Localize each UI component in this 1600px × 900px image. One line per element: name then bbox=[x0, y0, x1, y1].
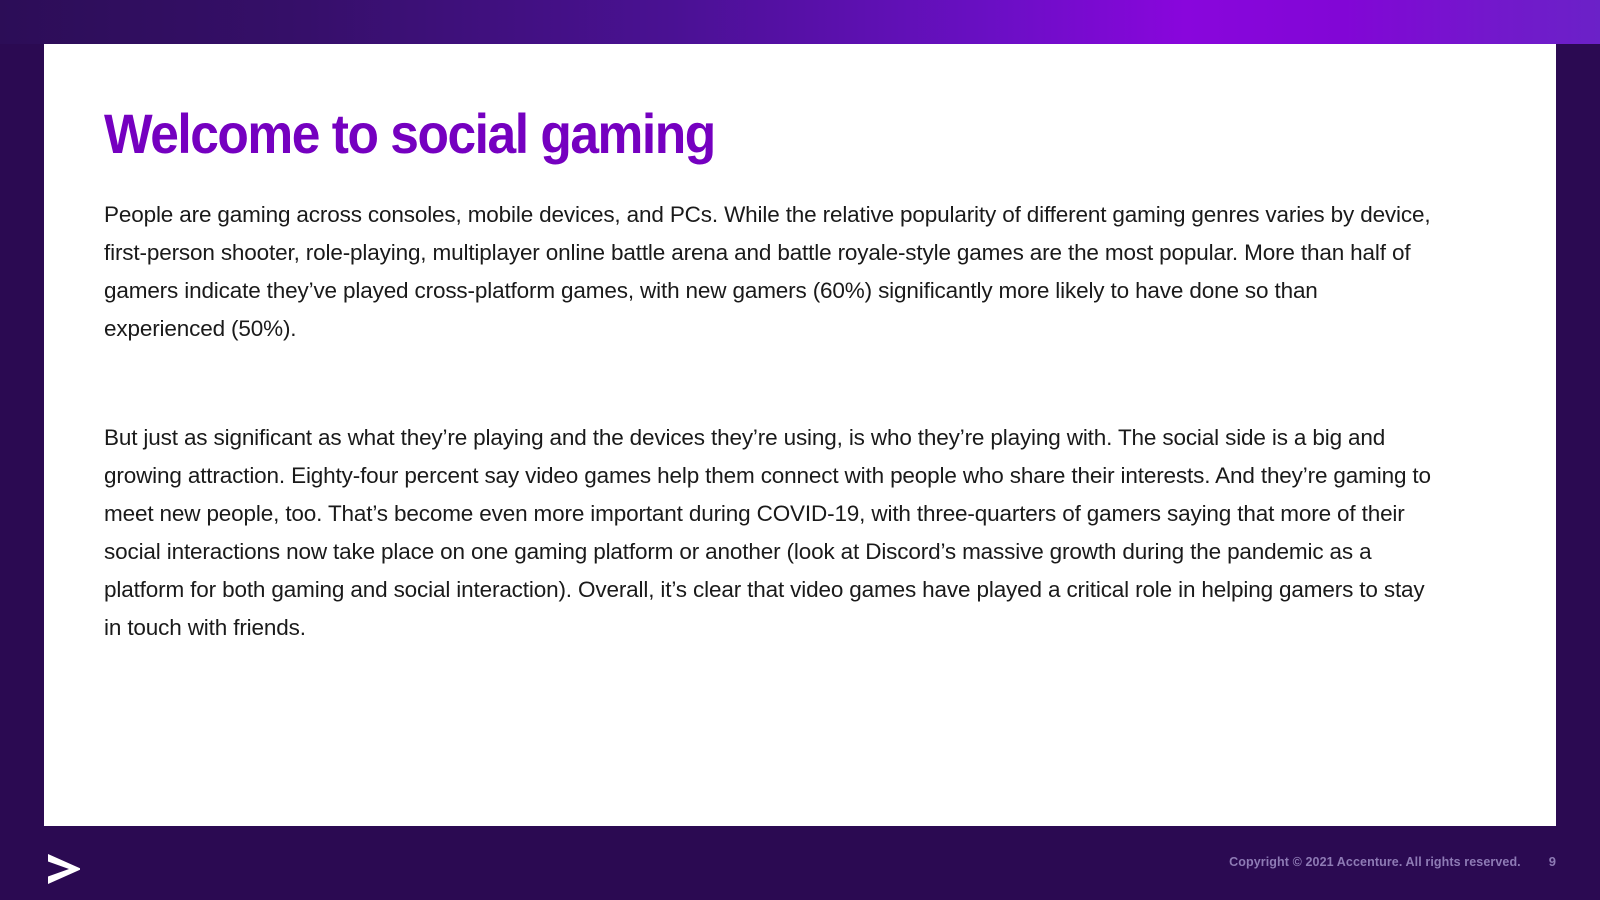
presentation-slide: Welcome to social gaming People are gami… bbox=[0, 0, 1600, 900]
top-gradient-band bbox=[0, 0, 1600, 44]
copyright-text: Copyright © 2021 Accenture. All rights r… bbox=[1229, 855, 1521, 869]
body-paragraph: People are gaming across consoles, mobil… bbox=[104, 196, 1444, 348]
page-number: 9 bbox=[1549, 854, 1556, 869]
page-title: Welcome to social gaming bbox=[104, 106, 1385, 162]
slide-content-card: Welcome to social gaming People are gami… bbox=[44, 44, 1556, 826]
slide-content-inner: Welcome to social gaming People are gami… bbox=[104, 106, 1496, 647]
slide-body: People are gaming across consoles, mobil… bbox=[104, 196, 1444, 647]
footer-meta: Copyright © 2021 Accenture. All rights r… bbox=[1229, 854, 1556, 869]
slide-footer: Copyright © 2021 Accenture. All rights r… bbox=[0, 826, 1600, 900]
accenture-greater-than-icon bbox=[44, 852, 86, 886]
body-paragraph: But just as significant as what they’re … bbox=[104, 419, 1444, 647]
